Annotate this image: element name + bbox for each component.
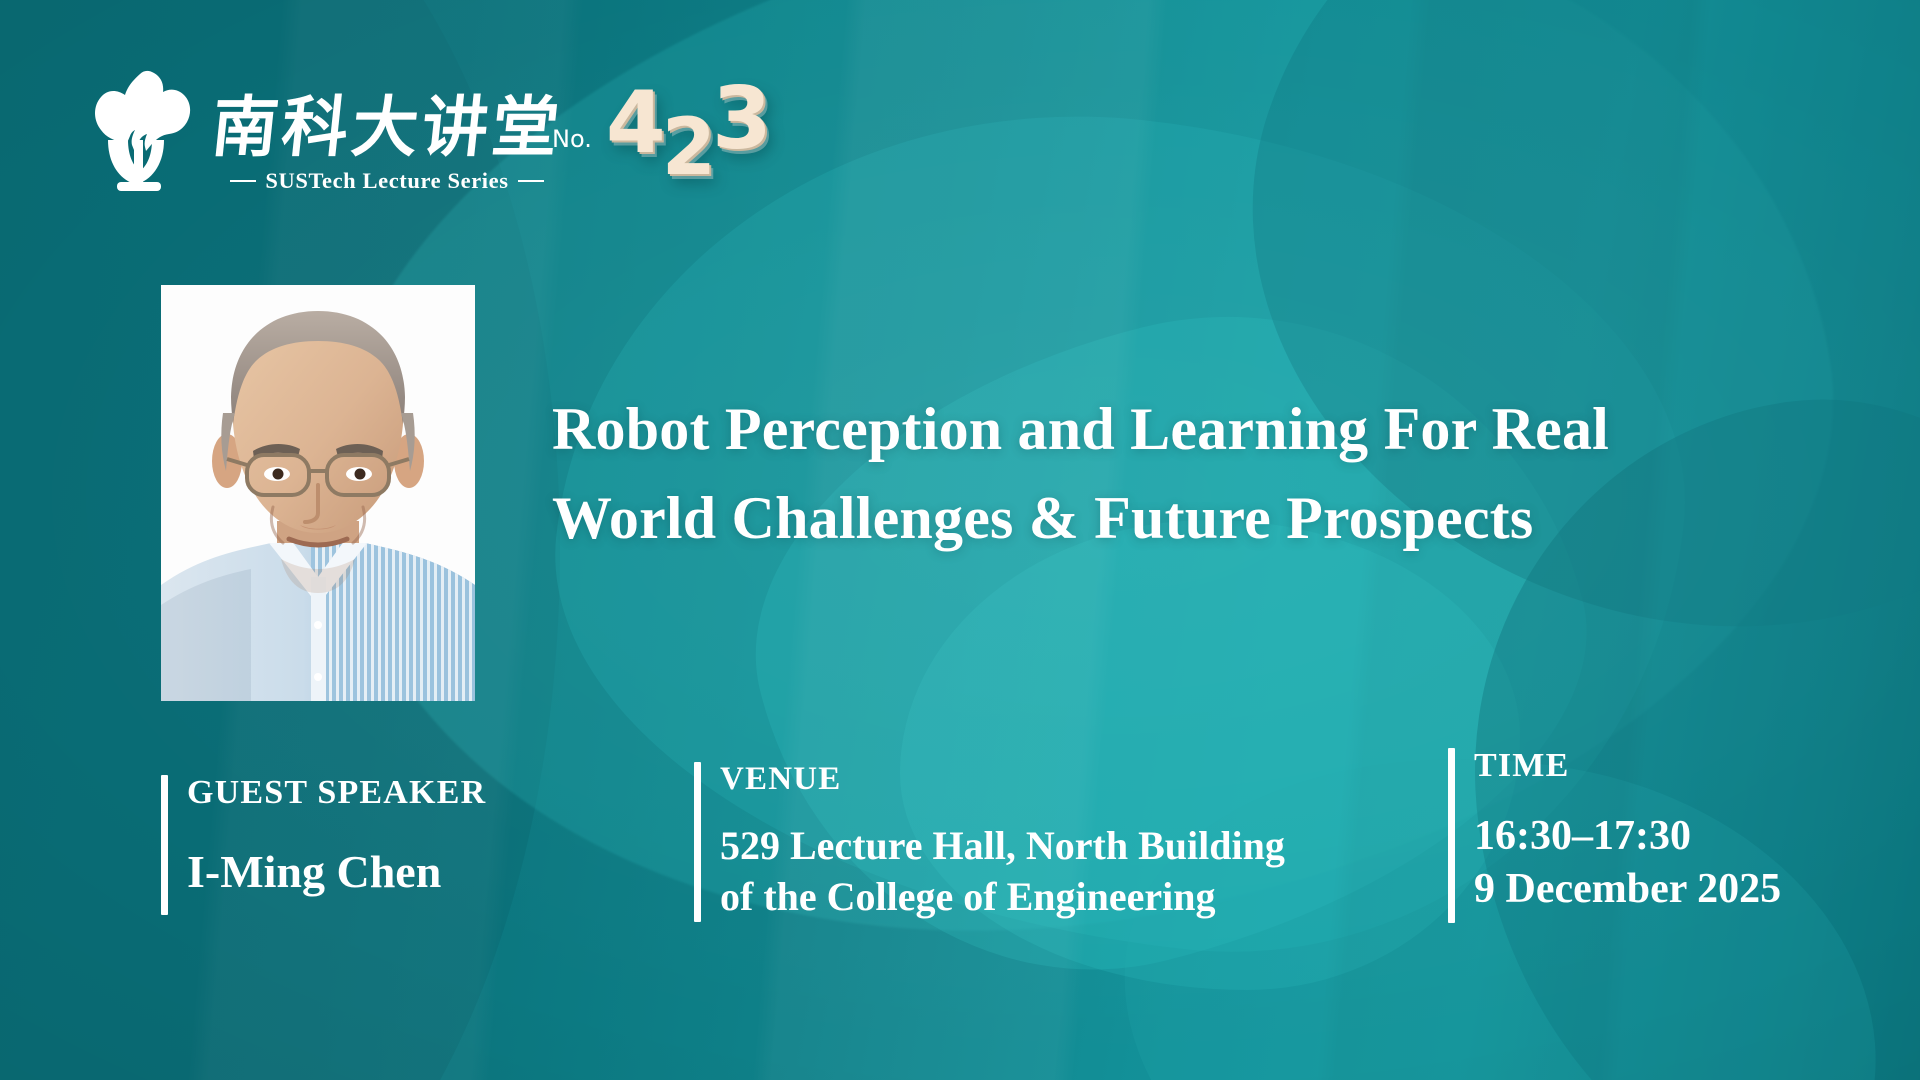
- lecture-title-line-1: Robot Perception and Learning For Real: [552, 385, 1852, 474]
- episode-digit-2: 2: [662, 117, 712, 181]
- speaker-photo-alt-text: Portrait of I-Ming Chen, older man with …: [0, 0, 1, 1]
- time-range: 16:30–17:30: [1474, 810, 1781, 863]
- venue-label: VENUE: [720, 762, 1285, 797]
- brand-rule-left-icon: [230, 180, 256, 182]
- venue-block: VENUE 529 Lecture Hall, North Building o…: [694, 762, 1285, 922]
- time-body: TIME 16:30–17:30 9 December 2025: [1455, 748, 1781, 923]
- time-block: TIME 16:30–17:30 9 December 2025: [1448, 748, 1781, 923]
- brand-rule-right-icon: [518, 180, 544, 182]
- episode-number: 4 2 3: [606, 96, 768, 167]
- venue-line-2: of the College of Engineering: [720, 872, 1285, 923]
- time-accent-bar: [1448, 748, 1455, 923]
- speaker-portrait-photo: [161, 285, 475, 701]
- guest-speaker-accent-bar: [161, 775, 168, 915]
- guest-speaker-name: I-Ming Chen: [187, 843, 486, 901]
- venue-line-1: 529 Lecture Hall, North Building: [720, 821, 1285, 872]
- brand-wordmark: 南科大讲堂 SUSTech Lecture Series: [212, 95, 562, 194]
- guest-speaker-label: GUEST SPEAKER: [187, 775, 486, 811]
- brand-english-row: SUSTech Lecture Series: [230, 168, 543, 194]
- brand-english-name: SUSTech Lecture Series: [265, 168, 508, 194]
- venue-accent-bar: [694, 762, 701, 922]
- guest-speaker-body: GUEST SPEAKER I-Ming Chen: [168, 775, 486, 915]
- info-strip: GUEST SPEAKER I-Ming Chen VENUE 529 Lect…: [0, 760, 1920, 1010]
- lecture-title-line-2: World Challenges & Future Prospects: [552, 474, 1852, 563]
- event-date: 9 December 2025: [1474, 863, 1781, 916]
- episode-digit-1: 4: [606, 88, 662, 159]
- episode-number-group: No. 4 2 3: [552, 96, 768, 167]
- episode-label: No.: [552, 125, 592, 153]
- lecture-poster: 南科大讲堂 SUSTech Lecture Series No. 4 2 3: [0, 0, 1920, 1080]
- background-blob-e: [1155, 0, 1920, 740]
- lecture-title: Robot Perception and Learning For Real W…: [552, 385, 1852, 564]
- guest-speaker-block: GUEST SPEAKER I-Ming Chen: [161, 775, 486, 915]
- brand-chinese-name: 南科大讲堂: [209, 95, 566, 161]
- time-label: TIME: [1474, 748, 1781, 784]
- episode-digit-3: 3: [712, 84, 768, 155]
- venue-body: VENUE 529 Lecture Hall, North Building o…: [701, 762, 1285, 922]
- sustech-torch-logo-icon: [86, 68, 194, 196]
- brand-lockup: 南科大讲堂 SUSTech Lecture Series: [86, 68, 562, 196]
